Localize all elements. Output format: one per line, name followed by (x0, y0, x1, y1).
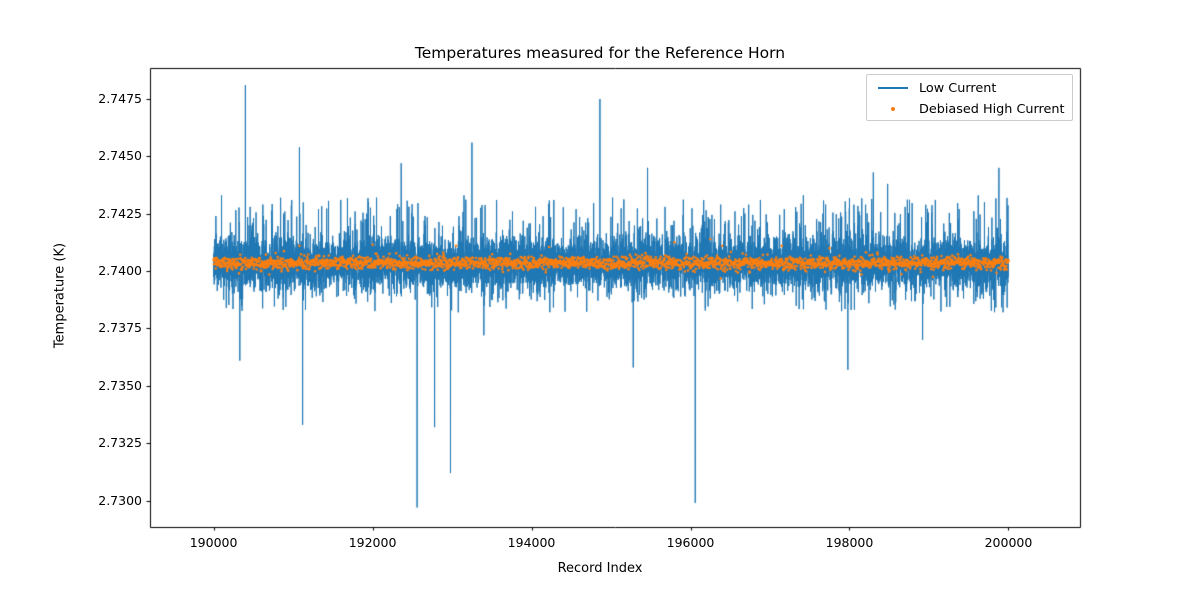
legend-entry-low-current: Low Current (875, 77, 996, 99)
legend-dot-icon (875, 107, 911, 111)
legend-entry-debiased-high-current: Debiased High Current (875, 98, 1065, 120)
legend-label-low-current: Low Current (919, 81, 996, 96)
legend-label-debiased-high-current: Debiased High Current (919, 102, 1065, 117)
legend-line-icon (875, 87, 911, 89)
chart-figure: Temperatures measured for the Reference … (0, 0, 1200, 600)
chart-legend: Low Current Debiased High Current (866, 74, 1073, 121)
